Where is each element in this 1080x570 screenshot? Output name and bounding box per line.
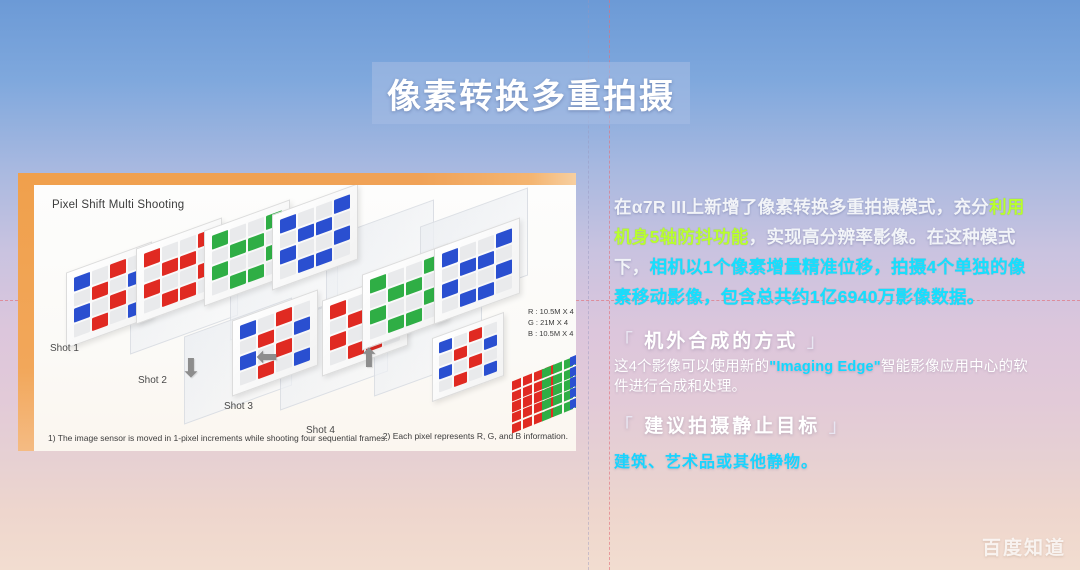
- card-accent-left-bar: [18, 173, 34, 451]
- para-part-1: 在α7R III上新增了像素转换多重拍摄模式，充分: [614, 197, 989, 217]
- arrow-down-icon: ⬇: [180, 355, 202, 381]
- diagram-note-2: 2) Each pixel represents R, G, and B inf…: [383, 431, 568, 443]
- arrow-up-icon: ⬆: [358, 345, 380, 371]
- paragraph-main: 在α7R III上新增了像素转换多重拍摄模式，充分利用机身5轴防抖功能，实现高分…: [614, 192, 1034, 312]
- diagram-card-body: Pixel Shift Multi Shooting: [34, 185, 576, 451]
- section-heading-1: 「 机外合成的方式 」: [614, 326, 1034, 353]
- slide-canvas: 像素转换多重拍摄 Pixel Shift Multi Shooting: [0, 0, 1080, 570]
- watermark: 百度知道: [982, 533, 1066, 560]
- section-heading-2: 「 建议拍摄静止目标 」: [614, 411, 1034, 438]
- paragraph-sub-1: 这4个影像可以使用新的"Imaging Edge"智能影像应用中心的软件进行合成…: [614, 357, 1034, 397]
- card-accent-top-bar: [18, 173, 576, 185]
- diagram-note-1: 1) The image sensor is moved in 1-pixel …: [48, 433, 388, 443]
- bracket-open-icon: 「: [614, 331, 636, 352]
- sub-part-1: 这4个影像可以使用新的: [614, 359, 769, 375]
- shot-label-2: Shot 2: [138, 375, 167, 386]
- page-title: 像素转换多重拍摄: [387, 69, 675, 118]
- diagram-title: Pixel Shift Multi Shooting: [52, 199, 184, 211]
- rgb-spec-text: R : 10.5M X 4 G : 21M X 4 B : 10.5M X 4: [528, 307, 574, 340]
- sub-highlight-imaging-edge: "Imaging Edge": [769, 359, 881, 375]
- diagram-card: Pixel Shift Multi Shooting: [18, 173, 576, 451]
- arrow-left-icon: ⬅: [256, 343, 278, 369]
- shot-label-1: Shot 1: [50, 343, 79, 354]
- section-heading-2-text: 建议拍摄静止目标: [644, 416, 820, 437]
- paragraph-subjects: 建筑、艺术品或其他静物。: [614, 448, 1034, 472]
- shot-label-3: Shot 3: [224, 401, 253, 412]
- bracket-close-icon: 」: [807, 331, 829, 352]
- output-plane-blue: [570, 341, 576, 410]
- bracket-close-icon: 」: [829, 416, 851, 437]
- bracket-open-icon: 「: [614, 416, 636, 437]
- text-column: 在α7R III上新增了像素转换多重拍摄模式，充分利用机身5轴防抖功能，实现高分…: [614, 192, 1034, 472]
- para-highlight-cyan: 相机以1个像素增量精准位移，拍摄4个单独的像素移动影像，包含总共约1亿6940万…: [614, 257, 1026, 307]
- slide-title-box: 像素转换多重拍摄: [372, 62, 690, 124]
- section-heading-1-text: 机外合成的方式: [644, 331, 798, 352]
